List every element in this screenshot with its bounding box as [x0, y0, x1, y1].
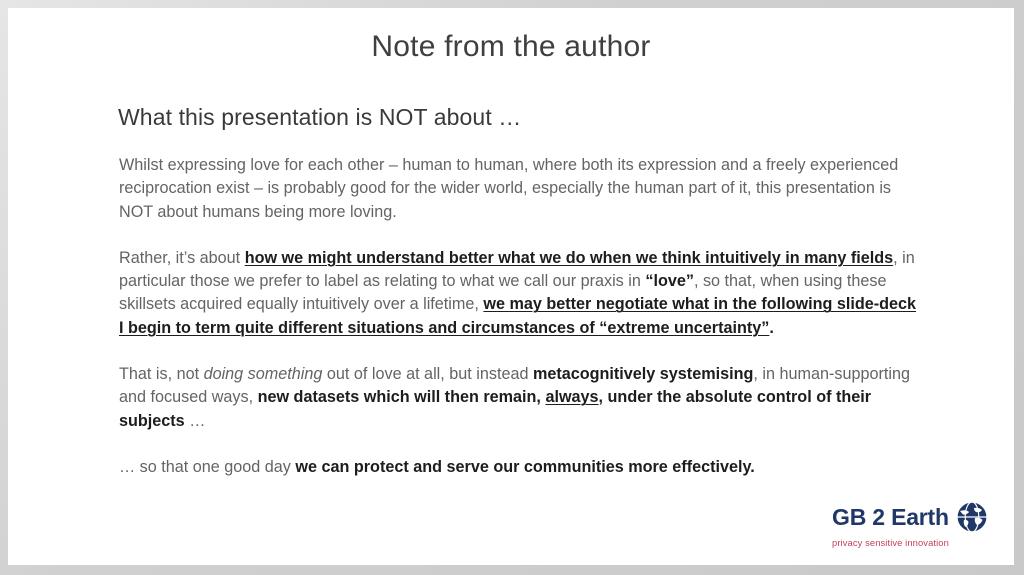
- slide-subheading: What this presentation is NOT about …: [118, 104, 521, 131]
- logo-tagline: privacy sensitive innovation: [832, 537, 992, 548]
- p4-run-1: … so that one good day: [119, 458, 295, 476]
- p2-underlined-1: how we might understand better what we d…: [245, 249, 893, 267]
- p1-text: Whilst expressing love for each other – …: [119, 156, 898, 221]
- p3-underlined-1: always: [545, 388, 598, 406]
- p2-bold-1: “love”: [645, 272, 694, 290]
- gb2earth-logo: GB 2 Earth privacy sensitive innovation: [832, 501, 992, 555]
- p3-run-1: That is, not: [119, 365, 204, 383]
- logo-wordmark: GB 2 Earth: [832, 506, 949, 529]
- slide-title: Note from the author: [8, 30, 1014, 64]
- globe-icon: [956, 501, 988, 533]
- p4-bold-1: we can protect and serve our communities…: [295, 458, 750, 476]
- p3-bold-2: new datasets which will then remain,: [258, 388, 546, 406]
- slide-body: Whilst expressing love for each other – …: [119, 154, 919, 479]
- p4-run-2: .: [750, 458, 755, 476]
- paragraph-3: That is, not doing something out of love…: [119, 363, 919, 433]
- p3-run-2: out of love at all, but instead: [322, 365, 533, 383]
- p3-italic-1: doing something: [204, 365, 323, 383]
- p2-run-4: .: [769, 319, 774, 337]
- slide-canvas: Note from the author What this presentat…: [8, 8, 1014, 565]
- slide-frame: Note from the author What this presentat…: [0, 0, 1024, 575]
- paragraph-4: … so that one good day we can protect an…: [119, 456, 919, 479]
- logo-text-row: GB 2 Earth: [832, 501, 992, 533]
- paragraph-2: Rather, it’s about how we might understa…: [119, 247, 919, 340]
- p3-bold-1: metacognitively systemising: [533, 365, 753, 383]
- paragraph-1: Whilst expressing love for each other – …: [119, 154, 919, 224]
- p3-run-4: …: [189, 412, 205, 430]
- p2-run-1: Rather, it’s about: [119, 249, 245, 267]
